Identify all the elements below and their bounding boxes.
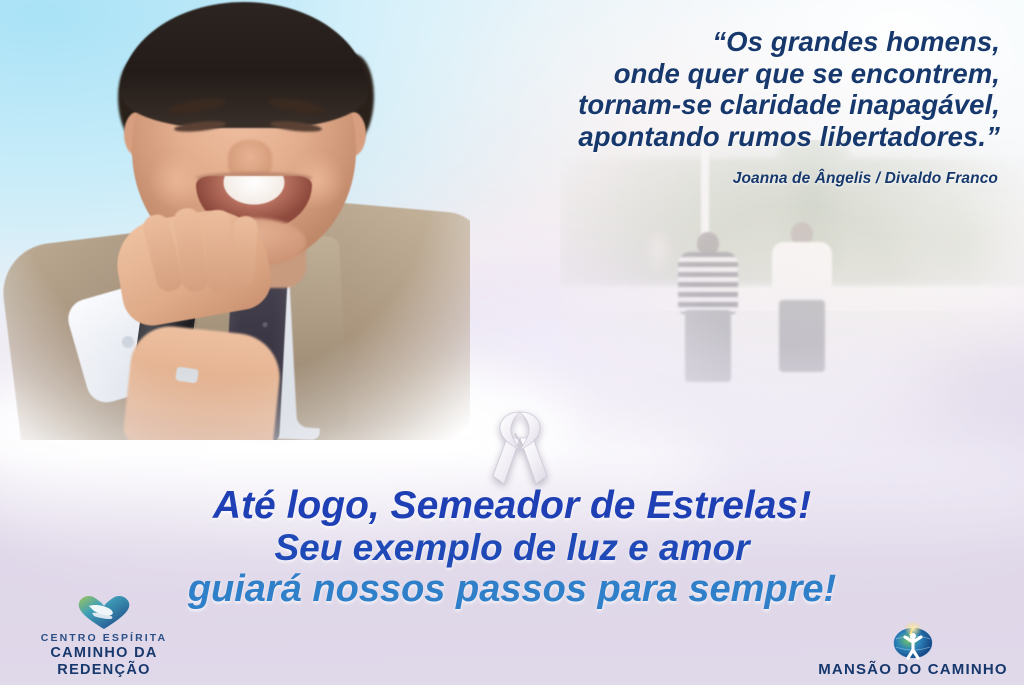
- globe-figure-icon: [808, 621, 1018, 661]
- quote-text: “Os grandes homens, onde quer que se enc…: [380, 26, 1000, 152]
- hand-holding-microphone: [122, 322, 284, 459]
- logo-mansao-do-caminho: MANSÃO DO CAMINHO: [808, 621, 1018, 679]
- hair: [120, 2, 368, 128]
- quote-line-3: tornam-se claridade inapagável,: [380, 89, 1000, 121]
- memorial-poster: “Os grandes homens, onde quer que se enc…: [0, 0, 1024, 685]
- quote-line-2: onde quer que se encontrem,: [380, 58, 1000, 90]
- white-ribbon-icon: [484, 408, 556, 486]
- logo-centro-espirita: CENTRO ESPÍRITA CAMINHO DA REDENÇÃO: [6, 592, 202, 679]
- logo-left-line-1: CENTRO ESPÍRITA: [6, 632, 202, 645]
- farewell-line-1: Até logo, Semeador de Estrelas!: [0, 485, 1024, 527]
- logo-left-line-2: CAMINHO DA REDENÇÃO: [6, 645, 202, 679]
- heart-hands-icon: [6, 592, 202, 632]
- quote-attribution: Joanna de Ângelis / Divaldo Franco: [733, 170, 998, 188]
- background-figure: [673, 232, 743, 392]
- background-figure: [767, 222, 837, 392]
- quote-line-4: apontando rumos libertadores.”: [380, 121, 1000, 153]
- logo-right-line-1: MANSÃO DO CAMINHO: [808, 661, 1018, 679]
- quote-line-1: “Os grandes homens,: [380, 26, 1000, 58]
- farewell-line-2: Seu exemplo de luz e amor: [0, 527, 1024, 568]
